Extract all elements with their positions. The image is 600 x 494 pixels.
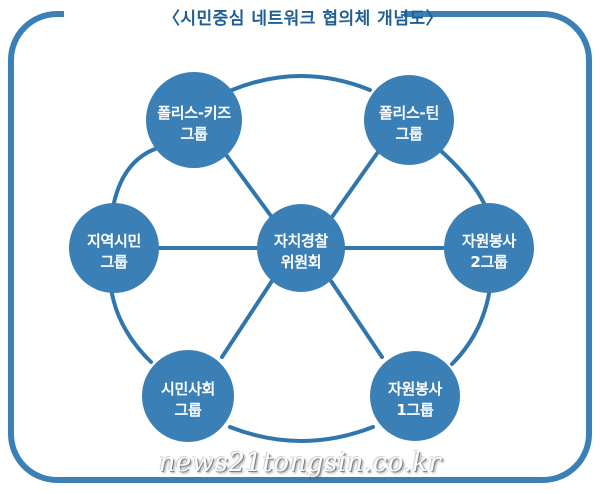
node-volunteer-1[interactable]: 자원봉사 1그룹 — [370, 351, 460, 441]
diagram-canvas: 폴리스-키즈 그룹 폴리스-틴 그룹 지역시민 그룹 자원봉사 2그룹 시민사회… — [0, 0, 600, 494]
node-local-citizen-line1: 지역시민 — [87, 232, 141, 250]
node-center-committee-line2: 위원회 — [281, 253, 322, 271]
node-local-citizen-line2: 그룹 — [100, 253, 128, 271]
node-civil-society[interactable]: 시민사회 그룹 — [142, 350, 234, 442]
spoke-center-to-civil-society — [222, 281, 272, 357]
network-diagram-svg: 폴리스-키즈 그룹 폴리스-틴 그룹 지역시민 그룹 자원봉사 2그룹 시민사회… — [0, 0, 600, 494]
node-volunteer-1-line1: 자원봉사 — [388, 380, 443, 398]
node-civil-society-line1: 시민사회 — [161, 380, 215, 398]
node-local-citizen[interactable]: 지역시민 그룹 — [69, 203, 159, 293]
node-police-kids[interactable]: 폴리스-키즈 그룹 — [146, 72, 242, 168]
node-center-committee-line1: 자치경찰 — [274, 232, 329, 250]
edge-police-kids-to-police-teen — [232, 76, 370, 90]
diagram-title: 〈시민중심 네트워크 협의체 개념도〉 — [0, 4, 600, 29]
node-civil-society-line2: 그룹 — [174, 401, 202, 419]
node-volunteer-2-line2: 2그룹 — [470, 253, 508, 271]
node-police-teen-line2: 그룹 — [395, 125, 423, 143]
spoke-center-to-police-teen — [332, 152, 378, 217]
edge-volunteer-1-to-civil-society — [230, 427, 373, 441]
node-volunteer-1-line2: 1그룹 — [396, 401, 434, 419]
node-police-kids-line1: 폴리스-키즈 — [157, 104, 231, 122]
spoke-center-to-police-kids — [224, 152, 271, 216]
node-center-committee[interactable]: 자치경찰 위원회 — [257, 204, 345, 292]
node-volunteer-2-line1: 자원봉사 — [462, 232, 517, 250]
node-volunteer-2[interactable]: 자원봉사 2그룹 — [444, 203, 534, 293]
spoke-center-to-volunteer-1 — [331, 281, 382, 357]
node-police-kids-line2: 그룹 — [180, 125, 208, 143]
node-police-teen[interactable]: 폴리스-틴 그룹 — [364, 75, 454, 165]
node-police-teen-line1: 폴리스-틴 — [379, 104, 439, 122]
